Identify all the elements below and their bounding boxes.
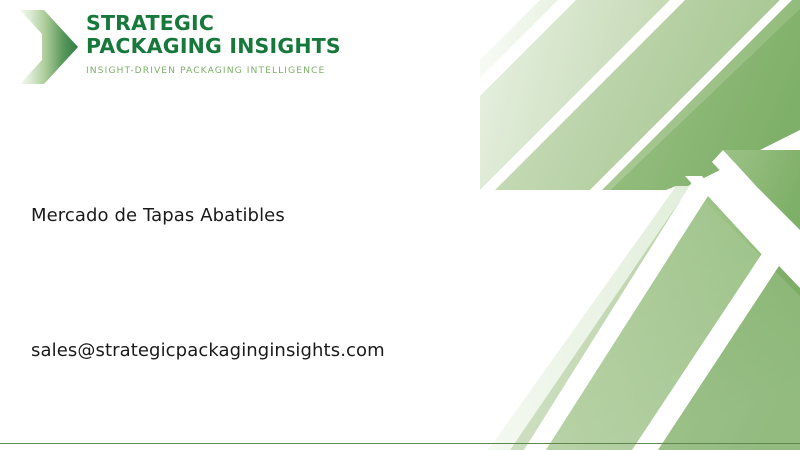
chevron-arrow-svg [18, 8, 80, 86]
lower-diagonal-band-group [480, 150, 800, 450]
brand-tagline: INSIGHT-DRIVEN PACKAGING INTELLIGENCE [86, 65, 358, 76]
chevron-path [20, 10, 78, 84]
diagonal-green-bands-decoration [480, 0, 800, 450]
chevron-apex-highlight [685, 176, 710, 186]
contact-email[interactable]: sales@strategicpackaginginsights.com [31, 340, 385, 361]
brand-name-line-2: PACKAGING INSIGHTS [86, 35, 358, 58]
report-title: Mercado de Tapas Abatibles [31, 205, 285, 226]
bottom-rule-divider [0, 443, 800, 444]
brand-name-line-1: STRATEGIC [86, 12, 358, 35]
chevron-arrow-icon [18, 8, 80, 86]
upper-diagonal-band-group [480, 0, 800, 190]
brand-wordmark: STRATEGIC PACKAGING INSIGHTS INSIGHT-DRI… [86, 12, 358, 76]
decoration-svg [480, 0, 800, 450]
presentation-slide: STRATEGIC PACKAGING INSIGHTS INSIGHT-DRI… [0, 0, 800, 450]
brand-logo: STRATEGIC PACKAGING INSIGHTS INSIGHT-DRI… [18, 8, 358, 88]
